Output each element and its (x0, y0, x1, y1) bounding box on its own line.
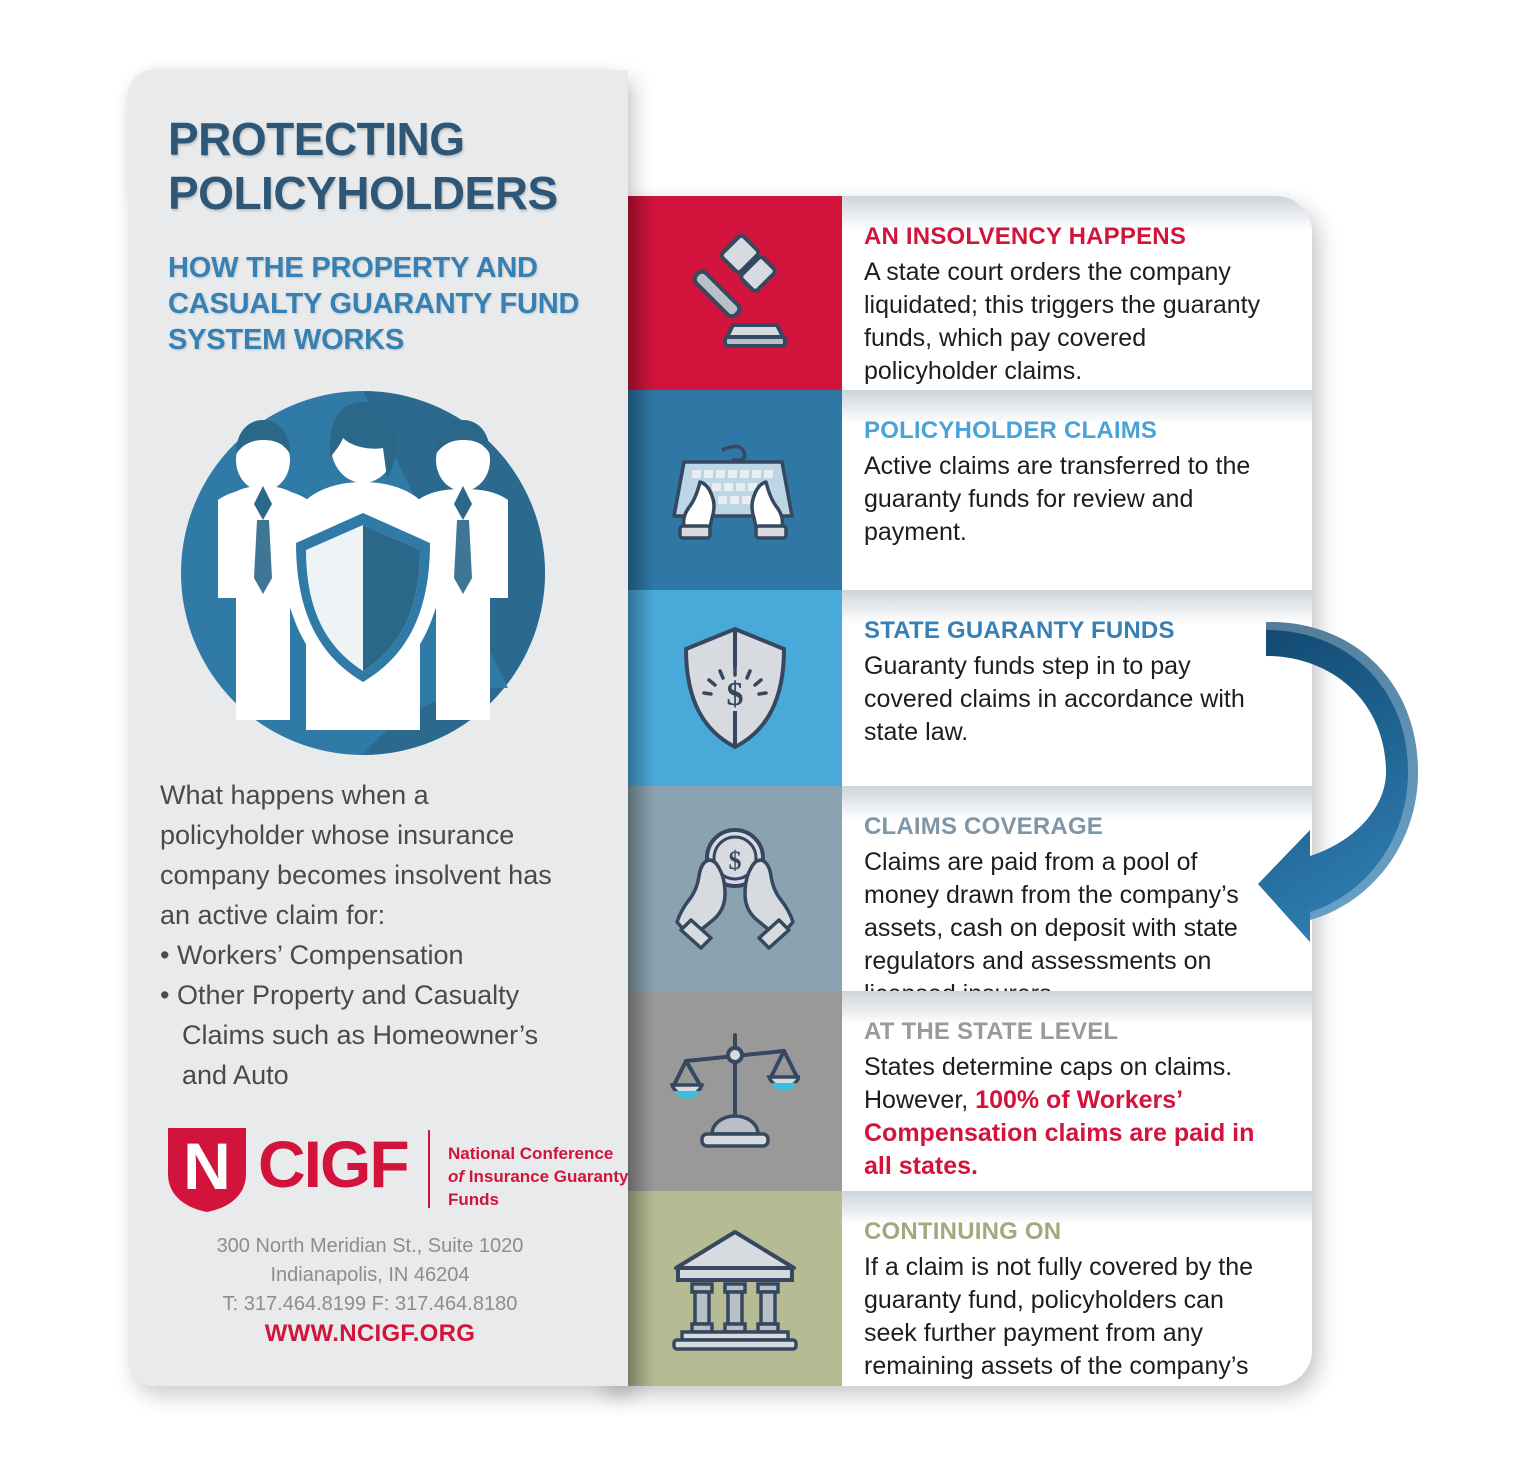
people-shield-icon (178, 388, 548, 758)
address-block: 300 North Meridian St., Suite 1020 India… (150, 1232, 590, 1319)
step-body-text: If a claim is not fully covered by the g… (864, 1253, 1253, 1386)
step-body: Claims are paid from a pool of money dra… (864, 846, 1278, 1011)
step-body-text: Claims are paid from a pool of money dra… (864, 848, 1239, 1008)
step-row: POLICYHOLDER CLAIMSActive claims are tra… (600, 390, 1312, 590)
blurb-bullet-1: • Other Property and Casualty Claims suc… (160, 975, 580, 1095)
step-text-panel: STATE GUARANTY FUNDSGuaranty funds step … (842, 590, 1312, 786)
logo-tagline-of: of (448, 1167, 464, 1186)
address-line-1: 300 North Meridian St., Suite 1020 (150, 1232, 590, 1261)
ncigf-logo: N CIGF National Conference of Insurance … (162, 1124, 592, 1214)
step-body: States determine caps on claims. However… (864, 1051, 1278, 1183)
step-body-text: Active claims are transferred to the gua… (864, 452, 1250, 546)
gavel-icon (675, 233, 795, 353)
step-icon-panel (628, 1191, 842, 1386)
step-heading: AT THE STATE LEVEL (864, 1017, 1278, 1047)
step-row: AN INSOLVENCY HAPPENSA state court order… (600, 196, 1312, 390)
address-line-2: Indianapolis, IN 46204 (150, 1261, 590, 1290)
step-text-panel: POLICYHOLDER CLAIMSActive claims are tra… (842, 390, 1312, 590)
logo-tagline-line1: National Conference (448, 1142, 668, 1165)
step-row: $STATE GUARANTY FUNDSGuaranty funds step… (600, 590, 1312, 786)
step-text-panel: AN INSOLVENCY HAPPENSA state court order… (842, 196, 1312, 390)
step-text-panel: CONTINUING ONIf a claim is not fully cov… (842, 1191, 1312, 1386)
logo-tagline-line2: of Insurance Guaranty Funds (448, 1165, 668, 1211)
website-link[interactable]: WWW.NCIGF.ORG (150, 1320, 590, 1348)
step-row: AT THE STATE LEVELStates determine caps … (600, 991, 1312, 1191)
step-body: If a claim is not fully covered by the g… (864, 1251, 1278, 1386)
circular-arrow-icon (1258, 612, 1438, 942)
step-row: CONTINUING ONIf a claim is not fully cov… (600, 1191, 1312, 1386)
bank-building-icon (670, 1226, 800, 1351)
step-heading: CLAIMS COVERAGE (864, 812, 1278, 842)
svg-text:$: $ (729, 846, 742, 875)
steps-card: AN INSOLVENCY HAPPENSA state court order… (600, 196, 1312, 1386)
blurb-bullet-0: • Workers’ Compensation (160, 935, 580, 975)
scales-icon (670, 1029, 800, 1154)
svg-text:$: $ (727, 676, 744, 713)
infographic-root: PROTECTING POLICYHOLDERS HOW THE PROPERT… (0, 0, 1516, 1464)
step-text-panel: CLAIMS COVERAGEClaims are paid from a po… (842, 786, 1312, 991)
step-icon-panel: $ (628, 786, 842, 991)
step-icon-panel: $ (628, 590, 842, 786)
logo-divider (428, 1130, 430, 1208)
step-icon-panel (628, 390, 842, 590)
logo-tagline-rest: Insurance Guaranty Funds (448, 1167, 628, 1209)
step-heading: CONTINUING ON (864, 1217, 1278, 1247)
step-heading: AN INSOLVENCY HAPPENS (864, 222, 1278, 252)
step-icon-panel (628, 196, 842, 390)
page-title: PROTECTING POLICYHOLDERS (168, 112, 598, 220)
shield-dollar-icon: $ (680, 623, 790, 753)
logo-mark-letter: N (172, 1130, 242, 1202)
step-heading: POLICYHOLDER CLAIMS (864, 416, 1278, 446)
logo-tagline: National Conference of Insurance Guarant… (448, 1142, 668, 1211)
step-body: A state court orders the company liquida… (864, 256, 1278, 388)
keyboard-hands-icon (670, 430, 800, 550)
address-line-3: T: 317.464.8199 F: 317.464.8180 (150, 1290, 590, 1319)
step-row: $CLAIMS COVERAGEClaims are paid from a p… (600, 786, 1312, 991)
sidebar-blurb: What happens when a policyholder whose i… (160, 775, 580, 1095)
step-body-text: Guaranty funds step in to pay covered cl… (864, 652, 1245, 746)
step-body: Guaranty funds step in to pay covered cl… (864, 650, 1278, 749)
step-text-panel: AT THE STATE LEVELStates determine caps … (842, 991, 1312, 1191)
hands-coin-icon: $ (665, 826, 805, 951)
blurb-intro: What happens when a policyholder whose i… (160, 775, 580, 935)
step-body: Active claims are transferred to the gua… (864, 450, 1278, 549)
step-body-text: A state court orders the company liquida… (864, 258, 1260, 385)
page-subtitle: HOW THE PROPERTY AND CASUALTY GUARANTY F… (168, 250, 588, 358)
logo-wordmark: CIGF (258, 1128, 408, 1200)
step-heading: STATE GUARANTY FUNDS (864, 616, 1278, 646)
